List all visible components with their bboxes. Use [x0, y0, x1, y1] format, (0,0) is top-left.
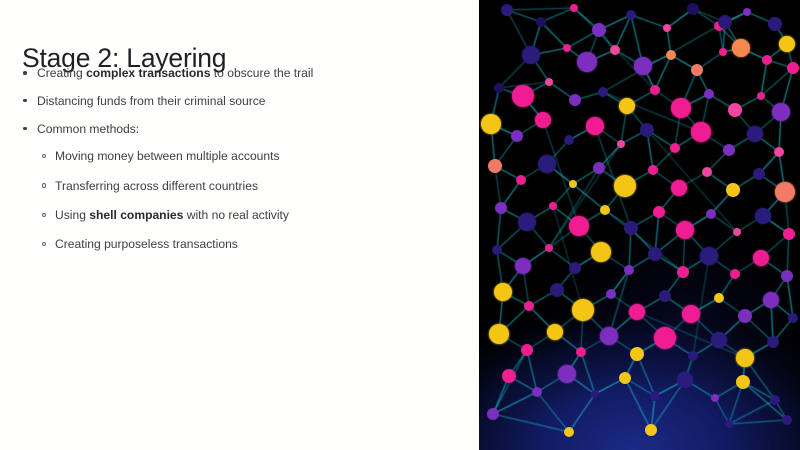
- graph-node: [545, 78, 553, 86]
- graph-node: [691, 122, 711, 142]
- graph-node: [648, 247, 662, 261]
- graph-node: [666, 50, 676, 60]
- graph-node: [728, 103, 742, 117]
- graph-node: [704, 89, 714, 99]
- graph-node: [718, 15, 732, 29]
- graph-node: [563, 44, 571, 52]
- graph-node: [516, 175, 526, 185]
- graph-node: [755, 208, 771, 224]
- graph-node: [538, 155, 556, 173]
- graph-node: [630, 347, 644, 361]
- graph-node: [572, 299, 594, 321]
- graph-node: [569, 180, 577, 188]
- graph-node: [521, 344, 533, 356]
- graph-node: [763, 292, 779, 308]
- graph-node: [743, 8, 751, 16]
- graph-node: [481, 114, 501, 134]
- graph-node: [726, 183, 740, 197]
- graph-node: [654, 327, 676, 349]
- graph-node: [648, 165, 658, 175]
- bullet-text: Common methods:: [37, 121, 462, 137]
- graph-node: [640, 123, 654, 137]
- graph-node: [619, 372, 631, 384]
- graph-node: [677, 266, 689, 278]
- graph-node: [524, 301, 534, 311]
- graph-node: [522, 46, 540, 64]
- graph-node: [682, 305, 700, 323]
- graph-node: [591, 242, 611, 262]
- graph-node: [600, 327, 618, 345]
- graph-node: [558, 365, 576, 383]
- bullet-list: Creating complex transactions to obscure…: [22, 65, 462, 266]
- graph-node: [687, 3, 699, 15]
- graph-node: [494, 83, 504, 93]
- bullet-text: Creating complex transactions to obscure…: [37, 65, 462, 81]
- graph-node: [768, 17, 782, 31]
- graph-node: [501, 4, 513, 16]
- graph-node: [570, 4, 578, 12]
- graph-node: [779, 36, 795, 52]
- bullet-item: Common methods:: [22, 121, 462, 137]
- graph-node: [676, 221, 694, 239]
- graph-node: [783, 228, 795, 240]
- graph-node: [606, 289, 616, 299]
- graph-node: [518, 213, 536, 231]
- sub-bullet-item: Creating purposeless transactions: [42, 236, 462, 252]
- graph-node: [732, 39, 750, 57]
- graph-node: [569, 216, 589, 236]
- graph-node: [495, 202, 507, 214]
- bullet-item: Creating complex transactions to obscure…: [22, 65, 462, 81]
- graph-node: [772, 103, 790, 121]
- graph-node: [700, 247, 718, 265]
- graph-node: [738, 309, 752, 323]
- graph-node: [730, 269, 740, 279]
- graph-node: [650, 85, 660, 95]
- graph-node: [629, 304, 645, 320]
- network-graph-illustration: [479, 0, 800, 450]
- graph-node: [593, 162, 605, 174]
- graph-node: [767, 336, 779, 348]
- graph-node: [723, 144, 735, 156]
- bullet-item: Distancing funds from their criminal sou…: [22, 93, 462, 109]
- sub-bullet-text: Moving money between multiple accounts: [55, 148, 462, 164]
- graph-node: [774, 147, 784, 157]
- graph-node: [650, 391, 660, 401]
- graph-node: [762, 55, 772, 65]
- sub-bullet-item: Using shell companies with no real activ…: [42, 207, 462, 223]
- graph-node: [714, 293, 724, 303]
- graph-node: [770, 395, 780, 405]
- sub-bullet-list: Moving money between multiple accountsTr…: [42, 148, 462, 252]
- graph-node: [747, 126, 763, 142]
- graph-node: [488, 159, 502, 173]
- graph-node: [586, 117, 604, 135]
- bullet-circle-icon: [42, 207, 55, 223]
- graph-node: [494, 283, 512, 301]
- graph-node: [536, 17, 546, 27]
- graph-node: [600, 205, 610, 215]
- graph-node: [569, 262, 581, 274]
- graph-node: [775, 182, 795, 202]
- graph-node: [706, 209, 716, 219]
- sub-bullet-text: Using shell companies with no real activ…: [55, 207, 462, 223]
- bullet-disc-icon: [22, 93, 37, 109]
- graph-node: [598, 87, 608, 97]
- graph-node: [670, 143, 680, 153]
- graph-node: [677, 372, 693, 388]
- graph-node: [653, 206, 665, 218]
- network-graph-svg: [479, 0, 800, 450]
- bullet-disc-icon: [22, 121, 37, 137]
- graph-node: [711, 332, 727, 348]
- graph-node: [725, 420, 733, 428]
- graph-node: [782, 415, 792, 425]
- bullet-circle-icon: [42, 178, 55, 194]
- content-panel: Stage 2: Layering Creating complex trans…: [0, 0, 479, 450]
- graph-node: [711, 394, 719, 402]
- graph-node: [592, 23, 606, 37]
- graph-node: [663, 24, 671, 32]
- sub-bullet-text: Creating purposeless transactions: [55, 236, 462, 252]
- graph-node: [753, 250, 769, 266]
- graph-node: [614, 175, 636, 197]
- graph-node: [733, 228, 741, 236]
- graph-node: [624, 265, 634, 275]
- graph-node: [691, 64, 703, 76]
- bullet-text: Distancing funds from their criminal sou…: [37, 93, 462, 109]
- graph-node: [492, 245, 502, 255]
- sub-bullet-item: Moving money between multiple accounts: [42, 148, 462, 164]
- graph-node: [549, 202, 557, 210]
- graph-node: [659, 290, 671, 302]
- graph-node: [502, 369, 516, 383]
- graph-node: [688, 351, 698, 361]
- graph-node: [634, 57, 652, 75]
- graph-node: [645, 424, 657, 436]
- graph-node: [753, 168, 765, 180]
- graph-node: [619, 98, 635, 114]
- graph-node: [610, 45, 620, 55]
- graph-node: [781, 270, 793, 282]
- bullet-disc-icon: [22, 65, 37, 81]
- graph-node: [624, 221, 638, 235]
- graph-node: [626, 10, 636, 20]
- graph-node: [719, 48, 727, 56]
- graph-node: [547, 324, 563, 340]
- graph-node: [550, 283, 564, 297]
- graph-node: [564, 135, 574, 145]
- graph-node: [787, 62, 799, 74]
- graph-node: [736, 375, 750, 389]
- graph-node: [736, 349, 754, 367]
- graph-node: [512, 85, 534, 107]
- graph-node: [511, 130, 523, 142]
- graph-node: [671, 180, 687, 196]
- graph-node: [576, 347, 586, 357]
- sub-bullet-text: Transferring across different countries: [55, 178, 462, 194]
- graph-node: [564, 427, 574, 437]
- graph-node: [702, 167, 712, 177]
- graph-node: [788, 313, 798, 323]
- bullet-circle-icon: [42, 236, 55, 252]
- top-level-bullets: Creating complex transactions to obscure…: [22, 65, 462, 137]
- graph-node: [489, 324, 509, 344]
- graph-node: [569, 94, 581, 106]
- graph-node: [757, 92, 765, 100]
- bullet-circle-icon: [42, 148, 55, 164]
- slide: Stage 2: Layering Creating complex trans…: [0, 0, 800, 450]
- sub-bullet-item: Transferring across different countries: [42, 178, 462, 194]
- graph-node: [591, 390, 599, 398]
- graph-node: [577, 52, 597, 72]
- graph-node: [532, 387, 542, 397]
- graph-node: [487, 408, 499, 420]
- graph-node: [671, 98, 691, 118]
- graph-node: [545, 244, 553, 252]
- graph-node: [617, 140, 625, 148]
- graph-node: [535, 112, 551, 128]
- graph-node: [515, 258, 531, 274]
